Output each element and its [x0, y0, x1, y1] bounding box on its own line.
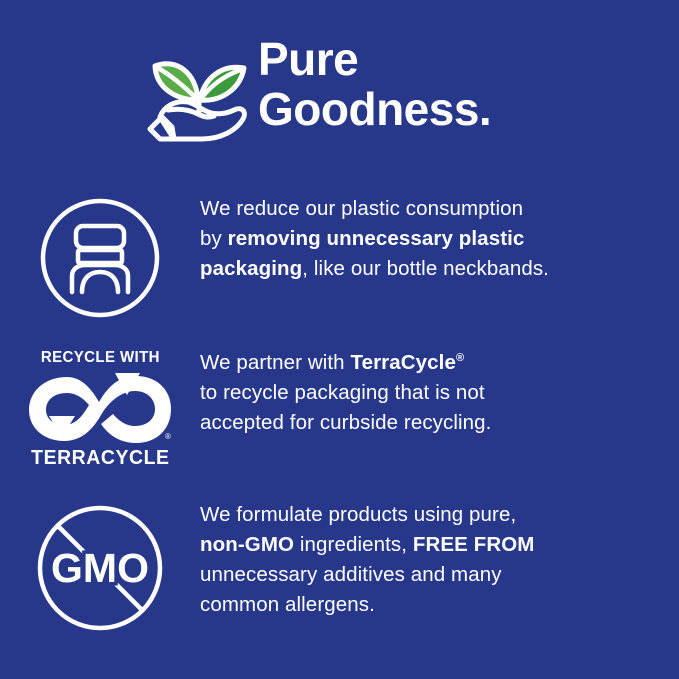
terracycle-top-label: RECYCLE WITH: [40, 350, 159, 366]
text-line: We partner with TerraCycle®: [200, 348, 679, 378]
feature-row-terracycle: RECYCLE WITH ® TERRACYCLE We partner wit…: [0, 348, 679, 469]
text-line: accepted for curbside recycling.: [200, 408, 679, 438]
feature-icon-cell: RECYCLE WITH ® TERRACYCLE: [0, 348, 200, 469]
infinity-loop-icon: ®: [27, 371, 173, 445]
text-line: unnecessary additives and many: [200, 560, 679, 590]
feature-row-non-gmo: GMO We formulate products using pure,non…: [0, 500, 679, 634]
pure-goodness-infographic: Pure Goodness. We reduce our plast: [0, 0, 679, 679]
feature-text-plastic-reduction: We reduce our plastic consumptionby remo…: [200, 194, 679, 284]
header: Pure Goodness.: [146, 30, 626, 150]
plastic-bottle-neck-icon: [38, 196, 162, 320]
gmo-label: GMO: [51, 545, 149, 591]
text-line: to recycle packaging that is not: [200, 378, 679, 408]
page-title: Pure Goodness.: [258, 30, 491, 134]
text-line: common allergens.: [200, 590, 679, 620]
feature-row-plastic-reduction: We reduce our plastic consumptionby remo…: [0, 194, 679, 320]
no-gmo-icon: GMO: [34, 502, 166, 634]
terracycle-bottom-label: TERRACYCLE: [31, 448, 169, 469]
page-title-line-1: Pure: [258, 34, 491, 84]
text-line: packaging, like our bottle neckbands.: [200, 254, 679, 284]
feature-text-non-gmo: We formulate products using pure,non-GMO…: [200, 500, 679, 620]
page-title-line-2: Goodness.: [258, 84, 491, 134]
text-line: by removing unnecessary plastic: [200, 224, 679, 254]
feature-icon-cell: [0, 194, 200, 320]
feature-icon-cell: GMO: [0, 500, 200, 634]
terracycle-recycle-icon: RECYCLE WITH ® TERRACYCLE: [27, 350, 173, 469]
text-line: We formulate products using pure,: [200, 500, 679, 530]
feature-text-terracycle: We partner with TerraCycle®to recycle pa…: [200, 348, 679, 438]
registered-mark: ®: [165, 432, 171, 441]
hand-holding-sprout-icon: [146, 38, 250, 146]
text-line: We reduce our plastic consumption: [200, 194, 679, 224]
text-line: non-GMO ingredients, FREE FROM: [200, 530, 679, 560]
